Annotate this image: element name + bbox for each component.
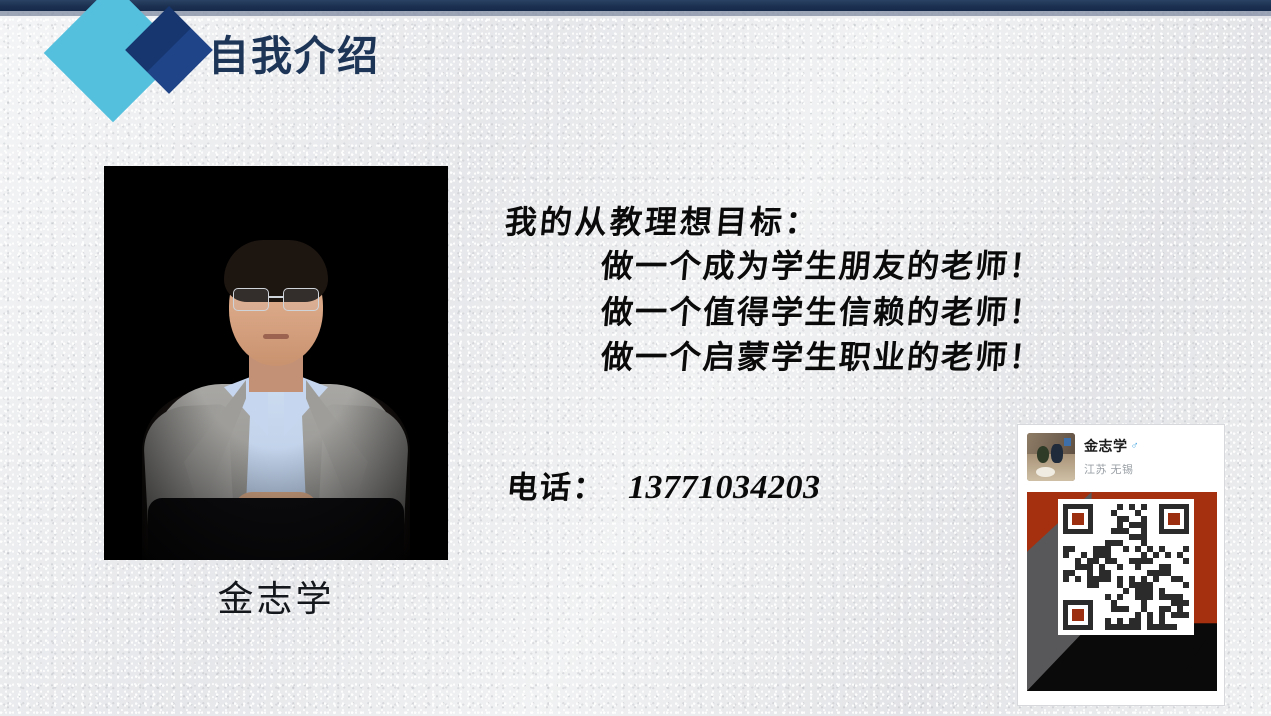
avatar-plate <box>1036 467 1055 478</box>
contact-phone-row: 电话： 13771034203 <box>507 462 821 507</box>
goal-item-3: 做一个启蒙学生职业的老师！ <box>599 335 1045 380</box>
wechat-card-header: 金志学 ♂ 江苏 无锡 <box>1027 433 1215 485</box>
wechat-name-line: 金志学 ♂ <box>1084 436 1142 456</box>
qr-finder-top-left <box>1063 504 1093 534</box>
qr-code-image[interactable] <box>1027 492 1217 691</box>
portrait-caption: 金志学 <box>104 570 448 622</box>
qr-finder-bottom-left <box>1063 600 1093 630</box>
avatar-accent <box>1064 438 1072 447</box>
wechat-contact-card[interactable]: 金志学 ♂ 江苏 无锡 <box>1017 424 1225 706</box>
phone-label: 电话： <box>505 462 608 507</box>
portrait-image <box>104 166 448 560</box>
slide-canvas: 自我介绍 金志学 我的从教理想目标： <box>0 0 1271 716</box>
page-title: 自我介绍 <box>208 36 380 77</box>
goal-item-1: 做一个成为学生朋友的老师！ <box>599 244 1045 289</box>
avatar <box>1027 433 1075 481</box>
avatar-figure-right <box>1051 444 1063 463</box>
qr-cells <box>1063 504 1189 630</box>
photo-vignette <box>104 166 448 560</box>
top-accent-bar <box>0 0 1271 11</box>
wechat-name: 金志学 <box>1084 436 1128 456</box>
goals-heading: 我的从教理想目标： <box>503 200 1045 244</box>
wechat-card-meta: 金志学 ♂ 江苏 无锡 <box>1084 433 1142 477</box>
top-accent-underline <box>0 11 1271 16</box>
male-person-icon: ♂ <box>1131 441 1142 452</box>
goals-block: 我的从教理想目标： 做一个成为学生朋友的老师！ 做一个值得学生信赖的老师！ 做一… <box>505 200 1043 380</box>
qr-finder-top-right <box>1159 504 1189 534</box>
wechat-location: 江苏 无锡 <box>1084 461 1142 477</box>
portrait-photo <box>104 166 448 560</box>
goal-item-2: 做一个值得学生信赖的老师！ <box>599 290 1045 335</box>
phone-number: 13771034203 <box>628 469 821 507</box>
avatar-figure-left <box>1037 446 1049 462</box>
qr-code-matrix <box>1058 499 1194 635</box>
